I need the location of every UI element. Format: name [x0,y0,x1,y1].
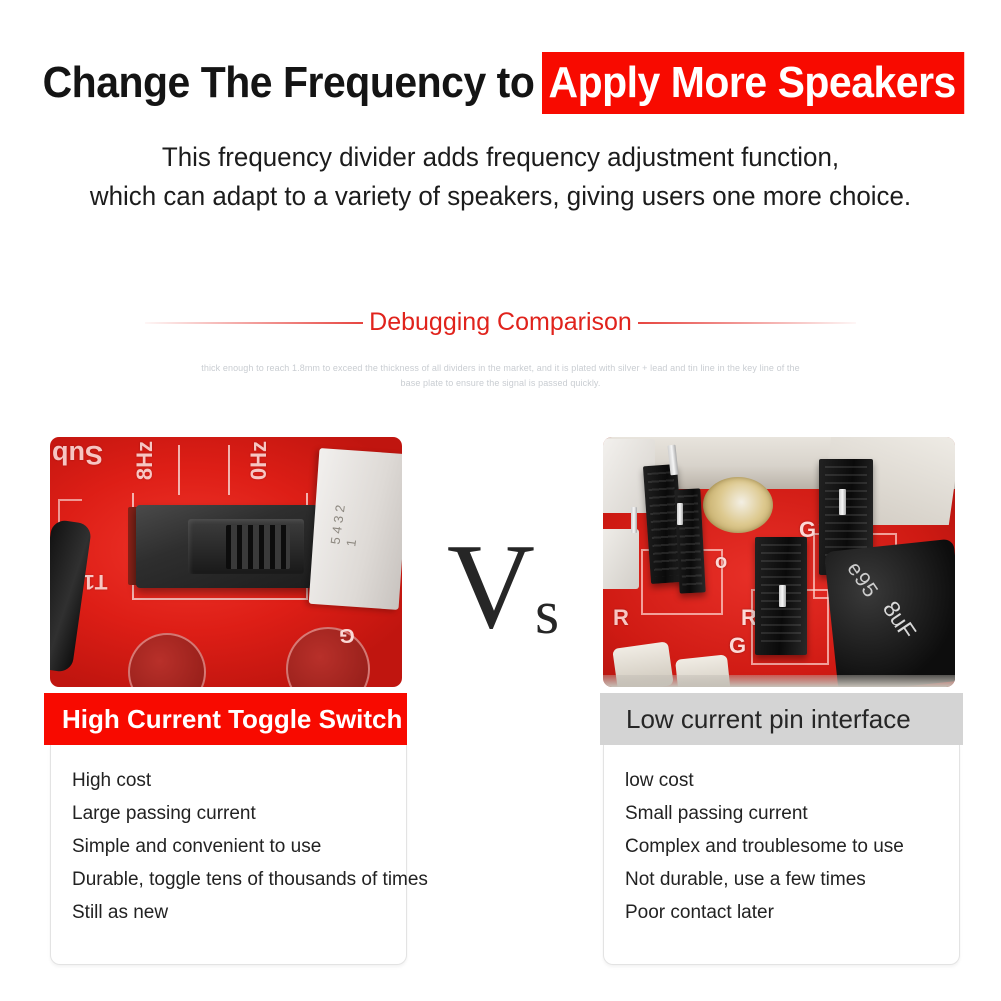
versus-separator: V s [433,538,573,648]
connector-marking: 5 4 3 2 1 [327,500,377,550]
capacitor-marking: e95 [842,558,883,603]
versus-s-letter: s [535,582,559,644]
list-item: Durable, toggle tens of thousands of tim… [72,863,406,896]
list-item: Large passing current [72,797,406,830]
section-heading: Debugging Comparison [0,308,1001,337]
silkscreen-t1-label: T1 [83,569,108,593]
metal-pin-b [631,507,637,533]
toggle-switch-photo: G Sub 8Hz 0Hz T1 5 4 3 2 1 [50,437,402,687]
silkscreen-g-label: G [339,623,355,646]
comparison-card-right: G R G R o e95 8uF Low current pin interf… [597,424,960,966]
headline-accent-text: Apply More Speakers [542,52,964,114]
list-item: Complex and troublesome to use [625,830,959,863]
headline-plain-text: Change The Frequency to [43,52,542,114]
right-label-bar: Low current pin interface [600,693,963,745]
list-item: High cost [72,764,406,797]
right-feature-list: low cost Small passing current Complex a… [604,745,959,929]
left-feature-list: High cost Large passing current Simple a… [51,745,406,929]
pin-interface-photo: G R G R o e95 8uF [603,437,955,687]
comparison-card-left: G Sub 8Hz 0Hz T1 5 4 3 2 1 High Current … [44,424,407,966]
black-capacitor: e95 8uF [824,539,955,687]
silkscreen-0hz-label: 0Hz [246,441,272,480]
capacitor-value: 8uF [877,596,922,644]
versus-v-letter: V [447,526,535,648]
list-item: Poor contact later [625,896,959,929]
list-item: Still as new [72,896,406,929]
silkscreen-8hz-label: 8Hz [132,441,158,480]
fineprint-block: thick enough to reach 1.8mm to exceed th… [0,361,1001,391]
white-connector: 5 4 3 2 1 [309,448,402,610]
fineprint-line-2: base plate to ensure the signal is passe… [0,376,1001,391]
list-item: Small passing current [625,797,959,830]
gold-plated-pad [703,477,773,533]
toggle-switch-lever [188,519,304,574]
left-label-text: High Current Toggle Switch [44,704,402,735]
toggle-switch-ridges [226,525,290,569]
metal-pin-e [779,585,786,607]
left-feature-box: High cost Large passing current Simple a… [50,745,407,965]
heading-rule-left [145,322,363,324]
toggle-switch-body [136,505,318,588]
list-item: Simple and convenient to use [72,830,406,863]
page-subtitle: This frequency divider adds frequency ad… [20,138,981,216]
right-label-text: Low current pin interface [600,704,911,735]
page-headline: Change The Frequency to Apply More Speak… [0,52,1001,114]
metal-pin-d [839,489,846,515]
silkscreen-tick-a [178,445,180,495]
silkscreen-g2-label: G [729,633,746,659]
subtitle-line-1: This frequency divider adds frequency ad… [20,138,981,177]
silkscreen-tick-b [228,445,230,495]
silkscreen-sub-label: Sub [52,439,103,470]
list-item: low cost [625,764,959,797]
subtitle-line-2: which can adapt to a variety of speakers… [20,177,981,216]
list-item: Not durable, use a few times [625,863,959,896]
section-heading-label: Debugging Comparison [363,308,638,337]
heading-rule-right [638,322,856,324]
silkscreen-o-label: o [715,551,727,574]
comparison-section: G Sub 8Hz 0Hz T1 5 4 3 2 1 High Current … [0,424,1001,984]
right-feature-box: low cost Small passing current Complex a… [603,745,960,965]
metal-pin-c [677,503,683,525]
fineprint-line-1: thick enough to reach 1.8mm to exceed th… [0,361,1001,376]
photo-background-bottom [603,675,955,687]
white-connector-b [603,529,639,589]
left-label-bar: High Current Toggle Switch [44,693,407,745]
silkscreen-r2-label: R [613,605,629,631]
